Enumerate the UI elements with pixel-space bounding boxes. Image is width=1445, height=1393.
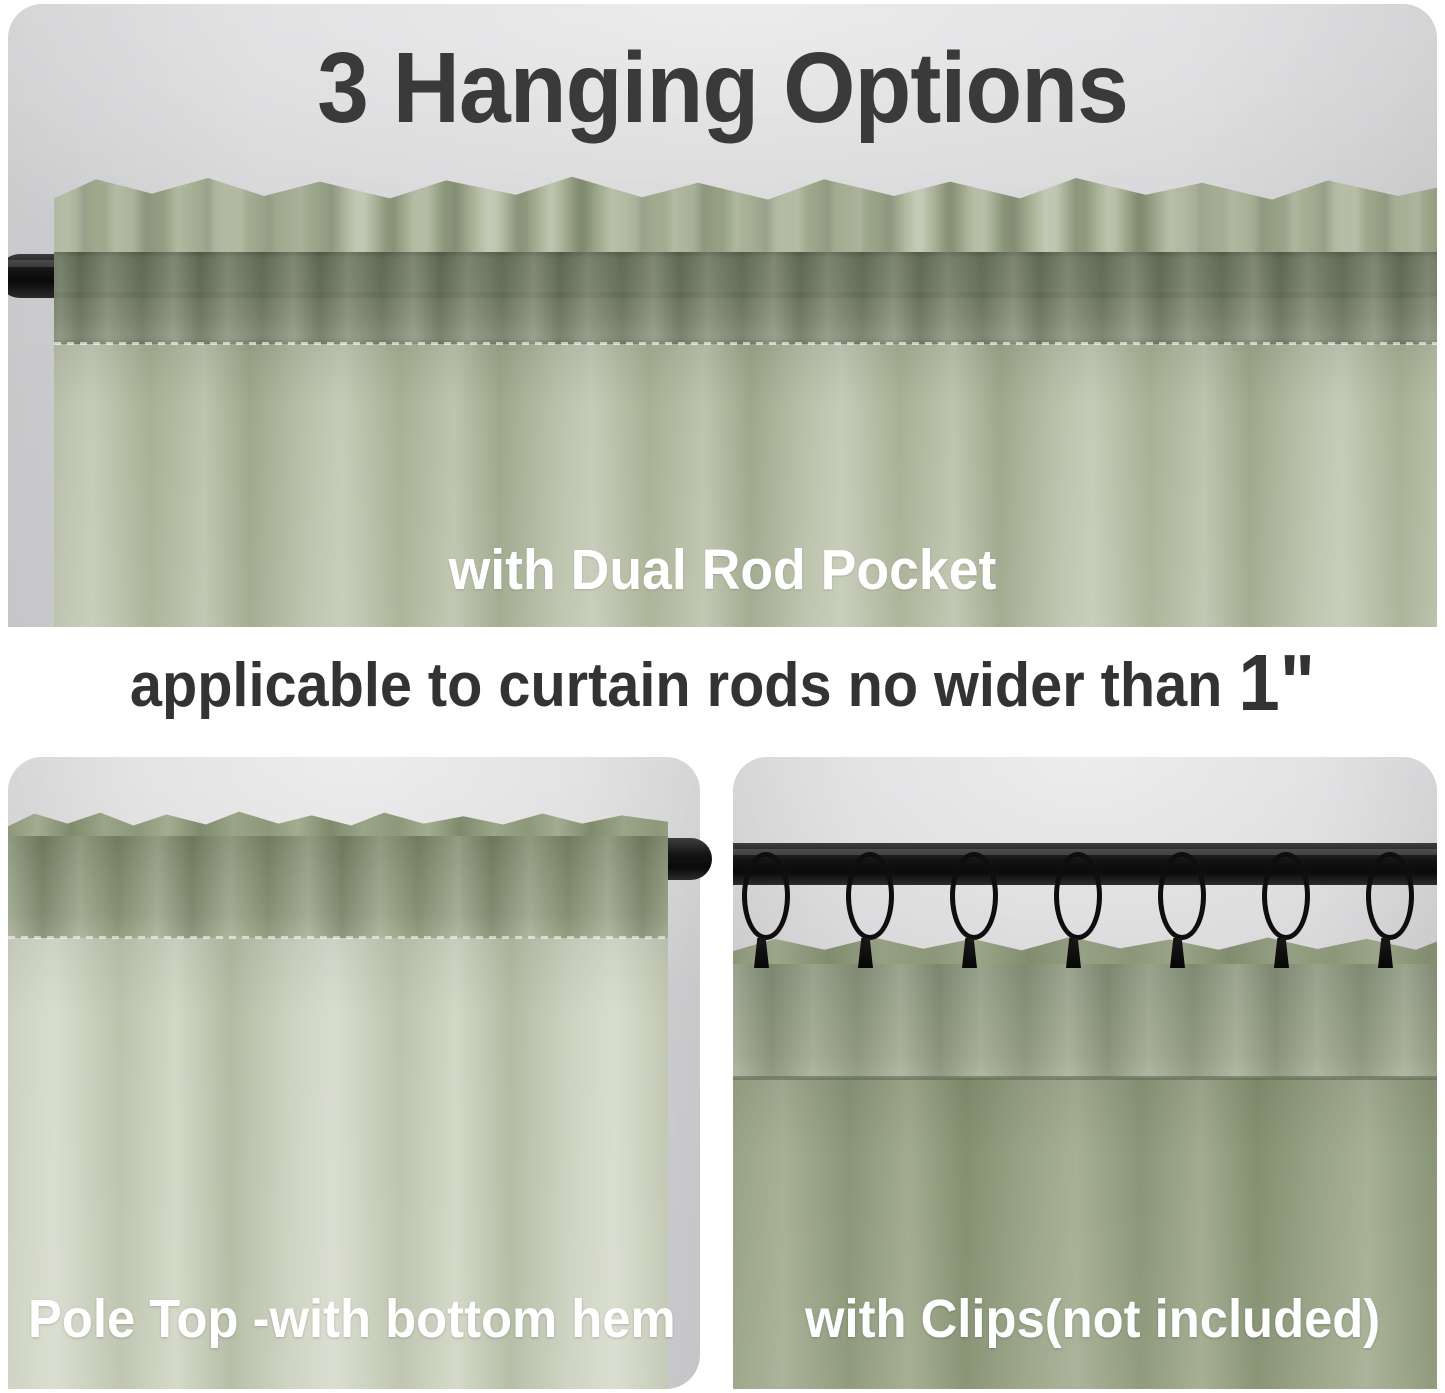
sheer-header-band xyxy=(733,956,1437,1078)
caption-with-clips: with Clips(not included) xyxy=(805,1292,1380,1346)
caption-dual-rod-pocket: with Dual Rod Pocket xyxy=(51,542,1394,599)
curtain-ring-icon xyxy=(1262,852,1310,940)
page-title: 3 Hanging Options xyxy=(58,38,1387,138)
curtain-ring-icon xyxy=(1366,852,1414,940)
stitch-line xyxy=(8,936,668,939)
curtain-ring-icon xyxy=(1158,852,1206,940)
curtain-ring-icon xyxy=(846,852,894,940)
seam-line xyxy=(733,1076,1437,1080)
curtain-ring-icon xyxy=(1054,852,1102,940)
rod-pocket-band xyxy=(8,836,668,938)
subnote-text: applicable to curtain rods no wider than… xyxy=(51,643,1395,723)
curtain-ring-icon xyxy=(950,852,998,940)
subnote-prefix: applicable to curtain rods no wider than xyxy=(130,651,1239,720)
caption-pole-top: Pole Top -with bottom hem xyxy=(28,1292,676,1346)
curtain-ring-icon xyxy=(742,852,790,940)
panel-dual-rod-pocket: 3 Hanging Options with Dual Rod Pocket xyxy=(8,4,1437,627)
subnote-measure: 1" xyxy=(1238,638,1315,727)
rod-pocket-band xyxy=(54,252,1437,344)
stitch-line xyxy=(54,342,1437,345)
product-feature-image: 3 Hanging Options with Dual Rod Pocket a… xyxy=(0,0,1445,1393)
